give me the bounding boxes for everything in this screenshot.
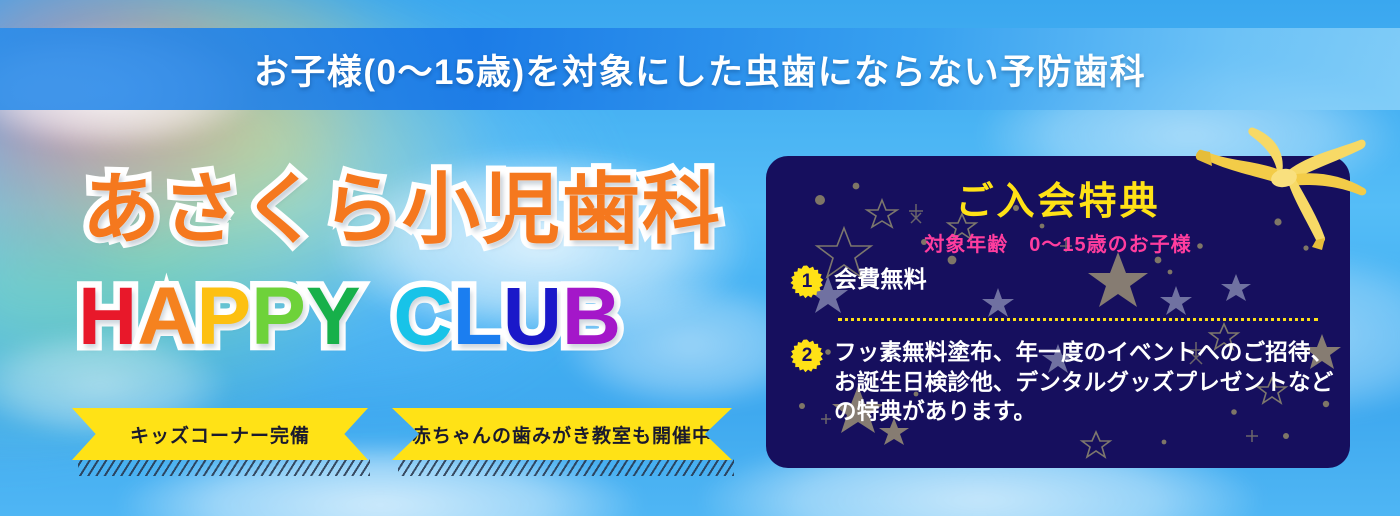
club-letter-l-7: L [453,271,503,362]
benefit-item: 1 会費無料 [790,264,927,299]
ribbon-shadow-hatch [78,458,370,476]
club-letter-u-8: U [503,271,562,362]
promotional-banner: お子様(0〜15歳)を対象にした虫歯にならない予防歯科 あさくら小児歯科 HAP… [0,0,1400,516]
benefit-description: 会費無料 [834,264,927,294]
benefit-number: 1 [790,265,824,299]
starburst-badge-icon: 1 [790,265,824,299]
starburst-badge-icon: 2 [790,339,824,373]
header-tagline-text: お子様(0〜15歳)を対象にした虫歯にならない予防歯科 [254,44,1146,95]
feature-ribbons: キッズコーナー完備 赤ちゃんの歯みがき教室も開催中 [72,408,732,478]
club-letter-p-3: P [251,271,306,362]
benefit-item: 2 フッ素無料塗布、年一度のイベントへのご招待、お誕生日検診他、デンタルグッズプ… [790,338,1342,427]
feature-ribbon-label: キッズコーナー完備 [130,421,310,448]
club-name-title: HAPPY CLUB [78,276,621,358]
feature-ribbon-label: 赤ちゃんの歯みがき教室も開催中 [412,421,712,448]
benefit-description: フッ素無料塗布、年一度のイベントへのご招待、お誕生日検診他、デンタルグッズプレゼ… [834,338,1339,427]
club-letter-space [361,271,394,362]
membership-benefits-panel: ご入会特典 対象年齢 0〜15歳のお子様 1 会費無料 2 [766,156,1350,468]
feature-ribbon-baby-brushing: 赤ちゃんの歯みがき教室も開催中 [392,408,732,460]
benefits-content: ご入会特典 対象年齢 0〜15歳のお子様 1 会費無料 2 [766,156,1350,468]
club-letter-a-1: A [137,271,196,362]
club-letter-p-2: P [196,271,251,362]
club-letter-y-4: Y [306,271,361,362]
ribbon-shadow-hatch [398,458,734,476]
club-letter-h-0: H [78,271,137,362]
benefit-number: 2 [790,339,824,373]
club-letter-b-9: B [562,271,621,362]
benefits-age-range-subtitle: 対象年齢 0〜15歳のお子様 [766,228,1350,257]
club-letter-c-6: C [393,271,452,362]
header-tagline-band: お子様(0〜15歳)を対象にした虫歯にならない予防歯科 [0,28,1400,110]
benefits-panel-title: ご入会特典 [766,170,1350,225]
feature-ribbon-kids-corner: キッズコーナー完備 [72,408,368,460]
clinic-name-title: あさくら小児歯科 [82,170,722,248]
benefits-divider [838,318,1318,321]
